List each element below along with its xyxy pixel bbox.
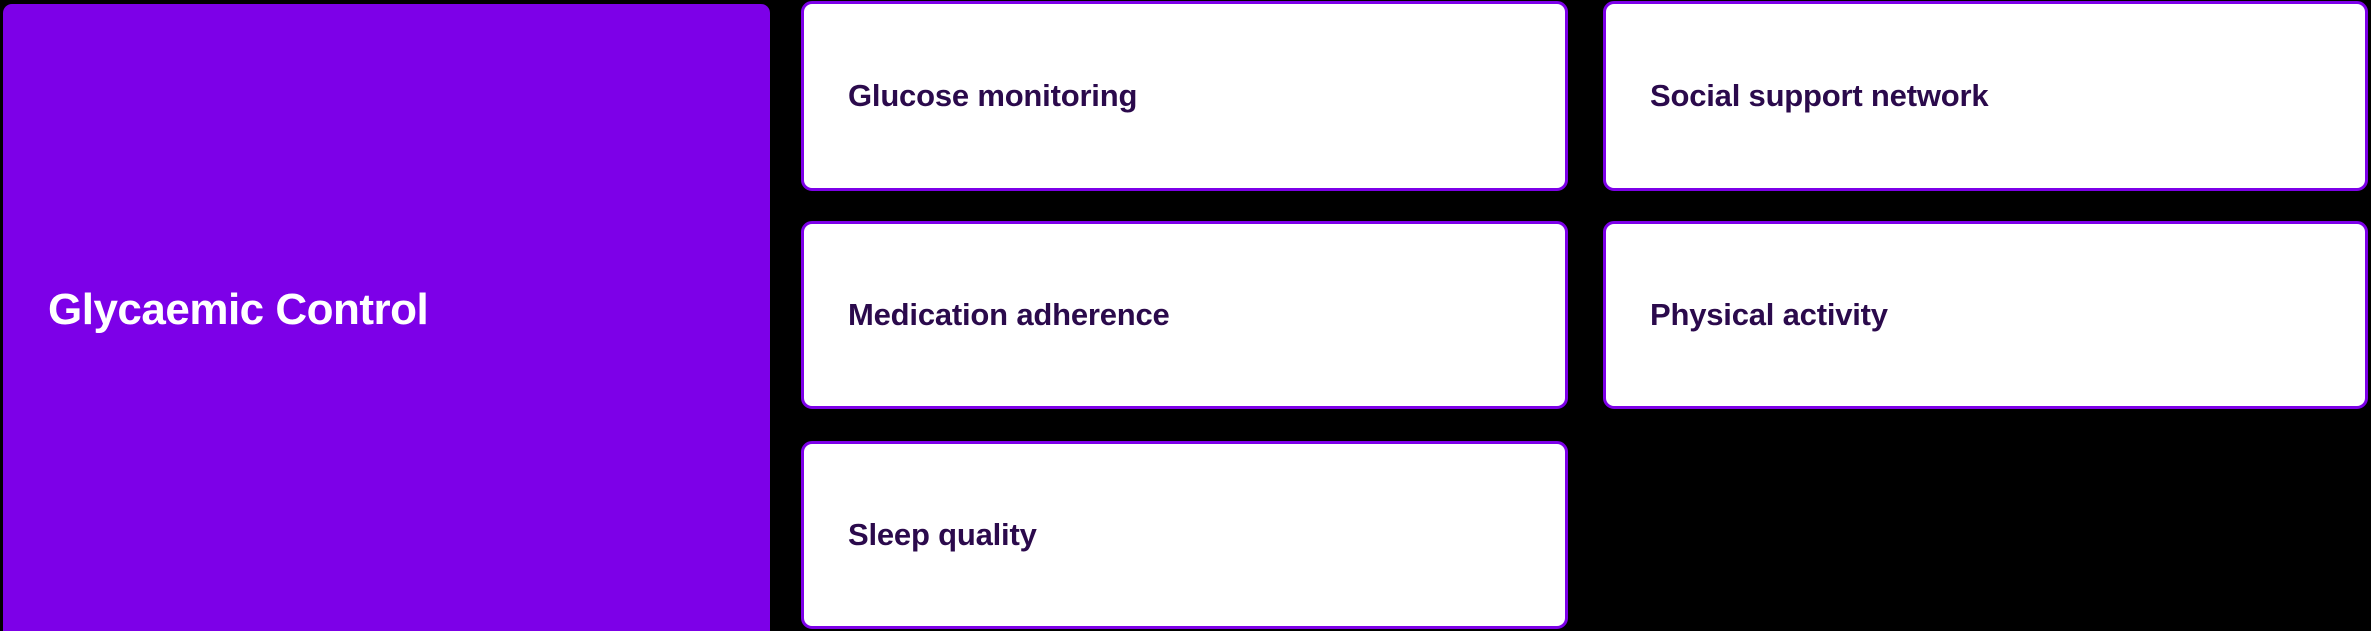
factor-card-label: Glucose monitoring (848, 78, 1137, 114)
factor-card-sleep-quality[interactable]: Sleep quality (801, 441, 1568, 629)
factor-card-physical-activity[interactable]: Physical activity (1603, 221, 2368, 409)
factor-card-grid: Glucose monitoring Social support networ… (801, 1, 2368, 630)
diagram-canvas: Glycaemic Control Glucose monitoring Soc… (0, 0, 2371, 631)
factor-card-label: Sleep quality (848, 517, 1037, 553)
factor-grid-empty-cell (1603, 441, 2368, 629)
factor-card-label: Physical activity (1650, 297, 1888, 333)
hero-panel-glycaemic-control[interactable]: Glycaemic Control (3, 4, 770, 631)
factor-card-medication-adherence[interactable]: Medication adherence (801, 221, 1568, 409)
factor-card-social-support-network[interactable]: Social support network (1603, 1, 2368, 191)
factor-card-glucose-monitoring[interactable]: Glucose monitoring (801, 1, 1568, 191)
hero-panel-title: Glycaemic Control (48, 286, 428, 334)
factor-card-label: Medication adherence (848, 297, 1170, 333)
factor-card-label: Social support network (1650, 78, 1988, 114)
